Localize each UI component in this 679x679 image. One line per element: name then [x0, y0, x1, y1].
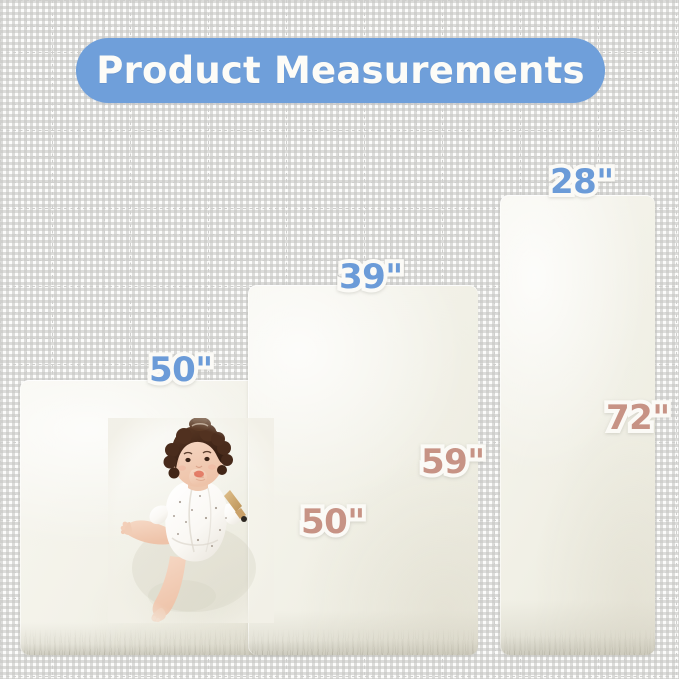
badge-large-mat-width: 50" [140, 348, 222, 392]
badge-medium-mat-height: 59" [412, 440, 494, 484]
badge-small-mat-height: 72" [597, 396, 679, 440]
badge-medium-mat-width: 39" [330, 255, 412, 299]
mat-fiber-edge-small [500, 629, 655, 655]
infographic-canvas: Product Measurements [0, 0, 679, 679]
page-title: Product Measurements [96, 49, 584, 92]
mat-fiber-edge-medium [248, 629, 478, 655]
title-banner: Product Measurements [76, 38, 605, 103]
badge-large-mat-height: 50" [292, 500, 374, 544]
badge-small-mat-width: 28" [541, 160, 623, 204]
